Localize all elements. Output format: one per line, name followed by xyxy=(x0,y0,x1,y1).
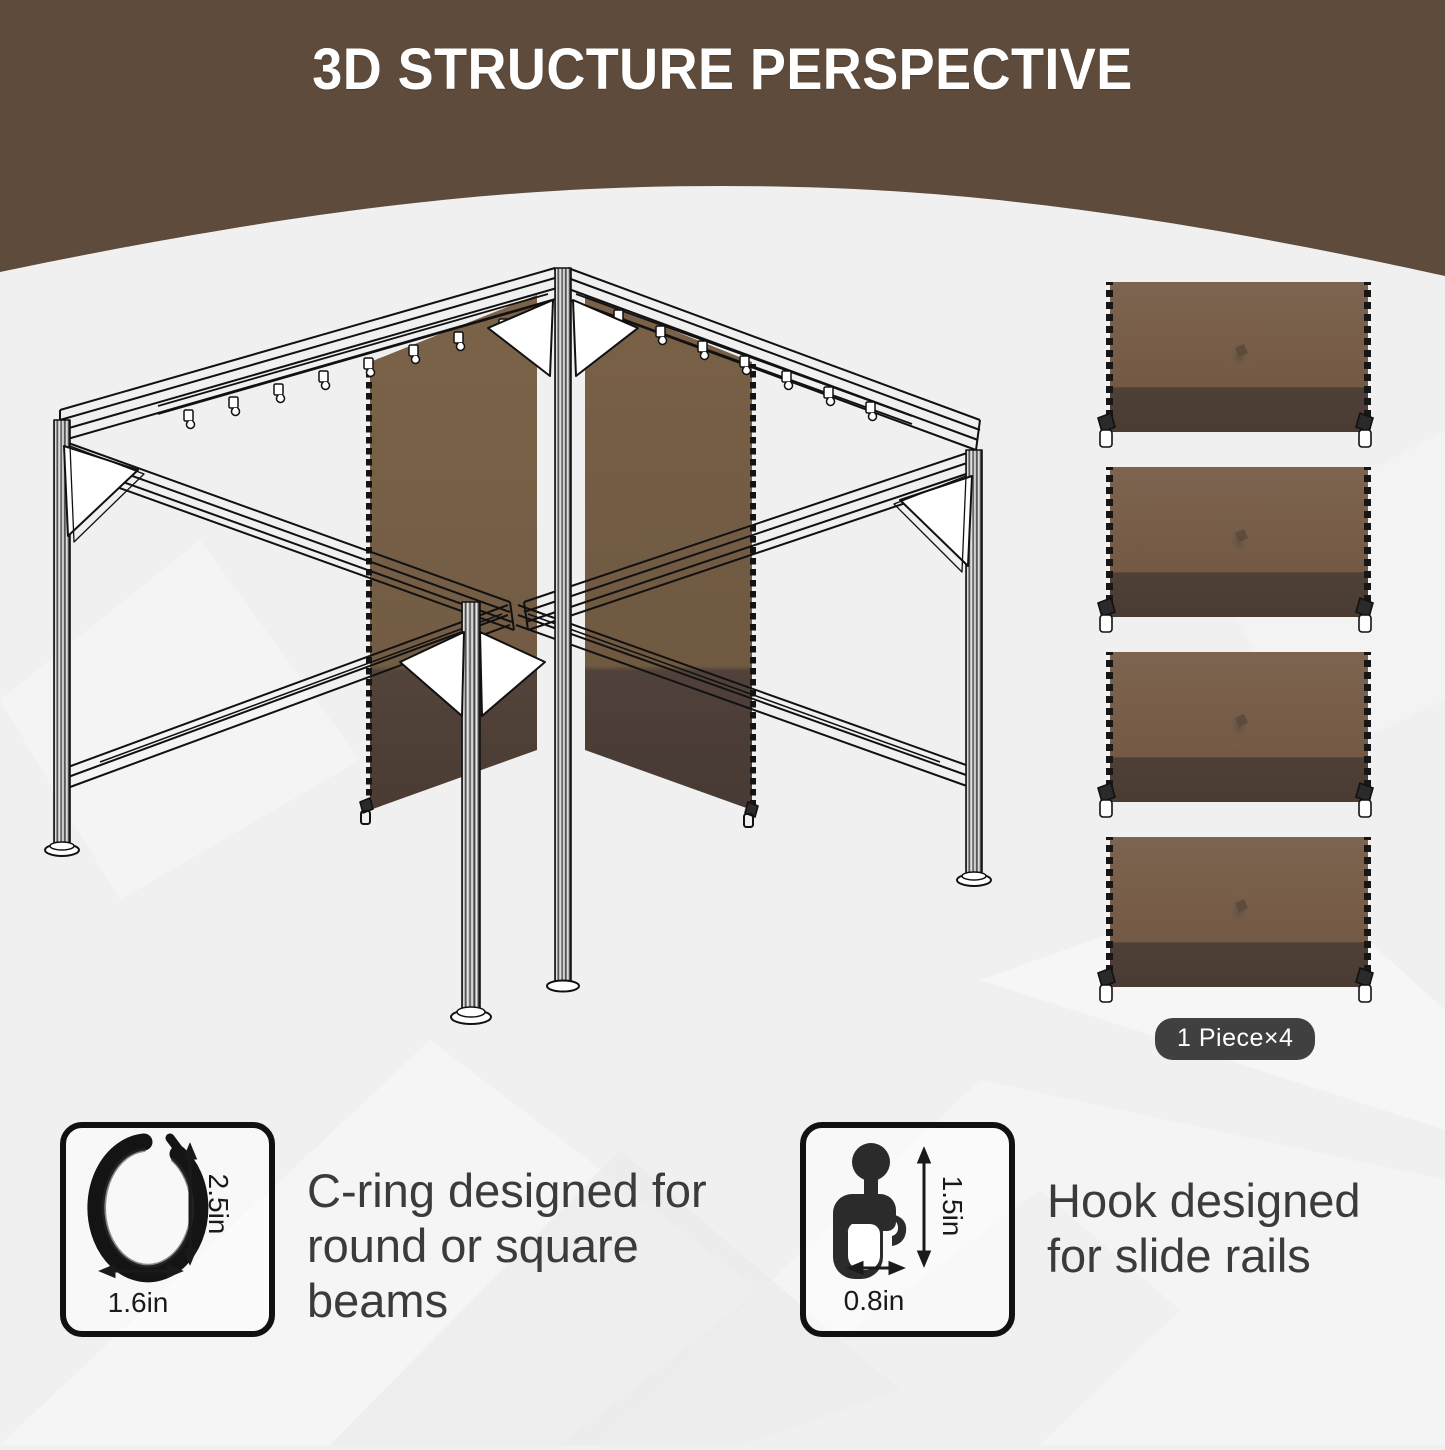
page-title: 3D STRUCTURE PERSPECTIVE xyxy=(51,36,1395,103)
hook-vertical-dim-label: 1.5in xyxy=(937,1176,968,1237)
hook-horizontal-dim-label: 0.8in xyxy=(844,1285,905,1316)
gazebo-illustration xyxy=(40,250,1070,1050)
stack-panel xyxy=(1098,467,1373,632)
stack-panel xyxy=(1098,652,1373,817)
stack-panel xyxy=(1098,282,1373,447)
piece-count-badge: 1 Piece×4 xyxy=(1155,1018,1315,1060)
stack-panel xyxy=(1098,837,1373,1002)
c-ring-vertical-dim-label: 2.5in xyxy=(203,1174,234,1235)
hook-icon-box: 1.5in 0.8in xyxy=(800,1122,1015,1337)
c-ring-horizontal-dim-label: 1.6in xyxy=(108,1287,169,1318)
hook-caption: Hook designed for slide rails xyxy=(1047,1122,1407,1284)
feature-hook: 1.5in 0.8in Hook designed for slide rail… xyxy=(800,1122,1407,1337)
feature-c-ring: 2.5in 1.6in C-ring designed for round or… xyxy=(60,1122,727,1337)
vertical-dimension-arrow xyxy=(919,1150,929,1264)
panel-stack xyxy=(1092,278,1382,1018)
c-ring-caption: C-ring designed for round or square beam… xyxy=(307,1122,727,1329)
c-ring-icon-box: 2.5in 1.6in xyxy=(60,1122,275,1337)
